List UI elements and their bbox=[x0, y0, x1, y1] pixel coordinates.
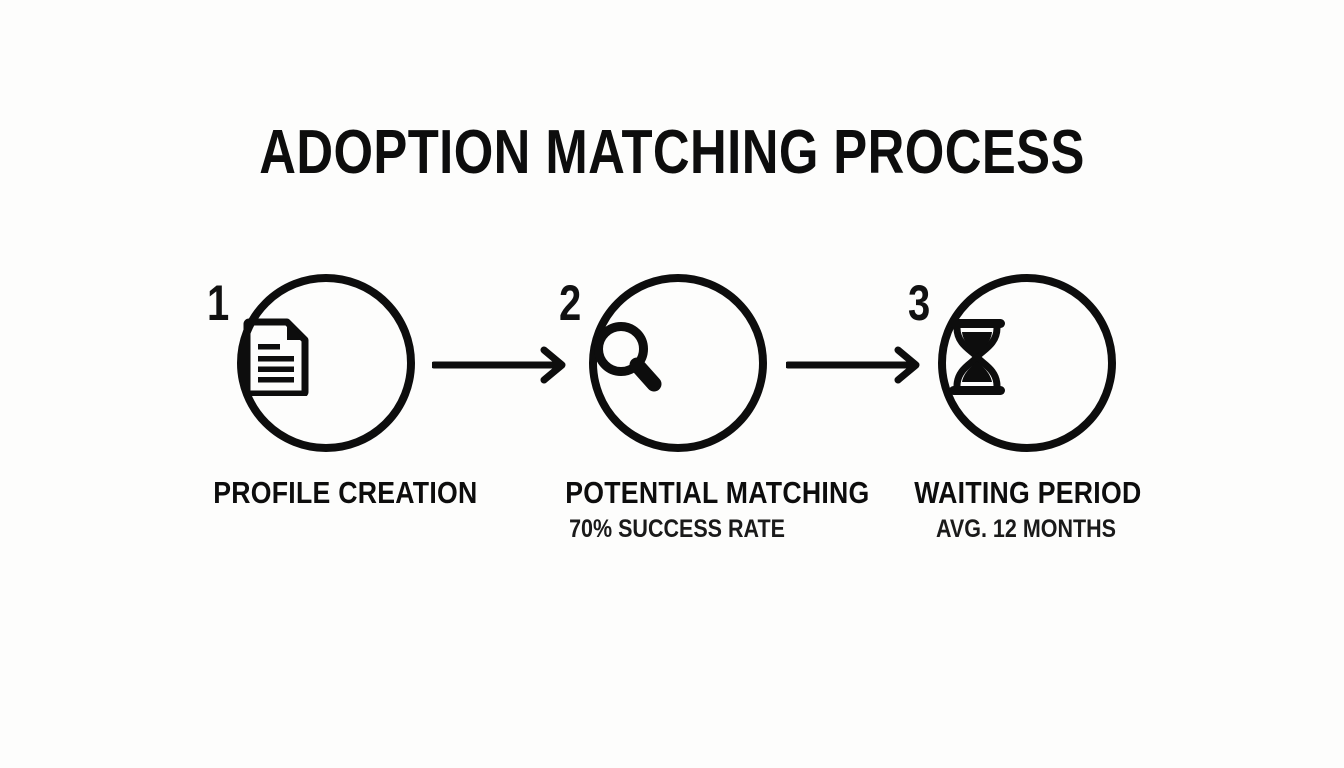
arrow-right-icon bbox=[786, 345, 926, 385]
step-2-number: 2 bbox=[559, 278, 581, 328]
process-step-3[interactable]: 3 WAITING PERIOD AVG. 12 MONTHS bbox=[896, 274, 1156, 543]
hourglass-icon bbox=[935, 315, 1019, 399]
process-steps: 1 PROFILE CREATION 2 bbox=[0, 0, 1344, 768]
step-1-badge: 1 bbox=[195, 274, 455, 454]
document-icon bbox=[234, 315, 318, 399]
magnifier-icon bbox=[586, 315, 670, 399]
process-step-1[interactable]: 1 PROFILE CREATION bbox=[195, 274, 455, 510]
step-1-number: 1 bbox=[207, 278, 229, 328]
process-step-2[interactable]: 2 POTENTIAL MATCHING 70% SUCCESS RATE bbox=[547, 274, 807, 543]
step-3-badge: 3 bbox=[896, 274, 1156, 454]
step-3-sublabel: AVG. 12 MONTHS bbox=[914, 516, 1138, 543]
infographic-canvas: ADOPTION MATCHING PROCESS 1 PR bbox=[0, 0, 1344, 768]
step-2-sublabel: 70% SUCCESS RATE bbox=[565, 516, 789, 543]
step-2-badge: 2 bbox=[547, 274, 807, 454]
arrow-right-icon bbox=[432, 345, 572, 385]
step-2-label: POTENTIAL MATCHING bbox=[565, 476, 789, 510]
step-3-label: WAITING PERIOD bbox=[914, 476, 1138, 510]
step-1-label: PROFILE CREATION bbox=[213, 476, 437, 510]
step-3-number: 3 bbox=[908, 278, 930, 328]
